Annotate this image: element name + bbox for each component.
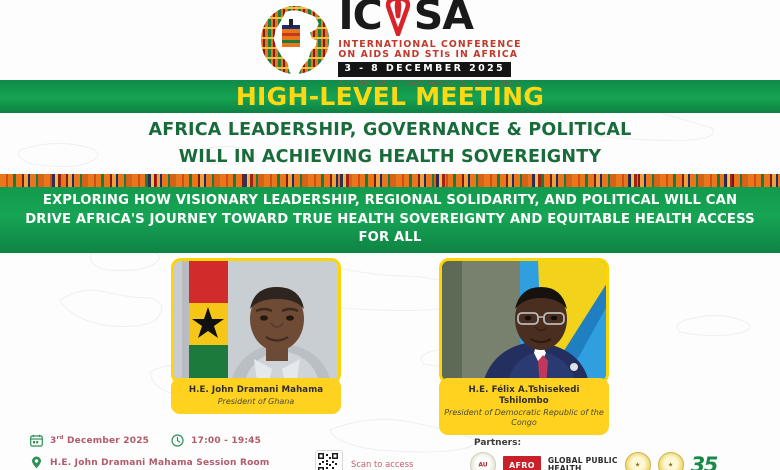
speaker-card-2: H.E. Félix A.Tshisekedi Tshilombo Presid… xyxy=(439,258,609,428)
subtitle-line-2: WILL IN ACHIEVING HEALTH SOVEREIGNTY xyxy=(0,144,780,171)
event-venue-label: H.E. John Dramani Mahama Session Room xyxy=(50,458,269,468)
clock-icon xyxy=(171,434,184,447)
poster-root: IC SA INTERNATIONAL CONFERENCE ON AIDS A… xyxy=(0,0,780,470)
speaker-role-1: President of Ghana xyxy=(175,397,337,407)
partner-global-public-line2: HEALTH xyxy=(548,465,618,470)
partner-logo-list: AU AFRO GLOBAL PUBLIC HEALTH ★ ★ xyxy=(470,453,717,470)
event-time: 17:00 - 19:45 xyxy=(171,434,261,447)
speaker-card-1: H.E. John Dramani Mahama President of Gh… xyxy=(171,258,341,428)
icasa-word-post: SA xyxy=(414,0,473,36)
qr-section[interactable]: Scan to access xyxy=(315,450,413,470)
partner-afro-label: AFRO xyxy=(503,456,541,470)
event-date: 3rd December 2025 xyxy=(30,434,149,447)
conference-tagline-2: ON AIDS AND STIs IN AFRICA xyxy=(338,50,518,59)
speaker-name-2: H.E. Félix A.Tshisekedi Tshilombo xyxy=(443,385,605,407)
location-pin-icon xyxy=(30,456,43,469)
qr-code-icon[interactable] xyxy=(315,450,343,470)
conference-venue: Accra International Conference Centre, A… xyxy=(338,80,520,86)
partner-seal-gold-1: ★ xyxy=(625,453,651,470)
partner-seal-1-mark: AU xyxy=(478,462,487,469)
conference-tagline-1: INTERNATIONAL CONFERENCE xyxy=(338,40,521,49)
partner-seal-gold-1-mark: ★ xyxy=(635,462,640,469)
event-venue: H.E. John Dramani Mahama Session Room xyxy=(30,456,269,469)
calendar-icon xyxy=(30,434,43,447)
partner-afro-red: AFRO xyxy=(503,453,541,470)
partner-seal-gold-2: ★ xyxy=(658,453,684,470)
subtitle: AFRICA LEADERSHIP, GOVERNANCE & POLITICA… xyxy=(0,117,780,171)
partner-35-label: 35 xyxy=(691,454,717,470)
africa-map-icon xyxy=(258,3,332,77)
partners-title: Partners: xyxy=(474,438,717,448)
speaker-caption-2: H.E. Félix A.Tshisekedi Tshilombo Presid… xyxy=(439,378,609,435)
conference-dates: 3 - 8 DECEMBER 2025 xyxy=(338,62,511,77)
speaker-caption-1: H.E. John Dramani Mahama President of Gh… xyxy=(171,378,341,414)
event-info-row-1: 3rd December 2025 17:00 - 19:45 xyxy=(30,434,269,447)
scan-label: Scan to access xyxy=(351,459,413,469)
description-band: EXPLORING HOW VISIONARY LEADERSHIP, REGI… xyxy=(0,187,780,253)
icasa-logo-text: IC SA INTERNATIONAL CONFERENCE ON AIDS A… xyxy=(338,0,521,86)
speaker-photo-2 xyxy=(439,258,609,384)
icasa-wordmark: IC SA xyxy=(338,0,473,38)
partner-35-anniversary: 35 xyxy=(691,453,717,470)
speaker-name-1: H.E. John Dramani Mahama xyxy=(175,385,337,396)
partner-seal-gold-2-mark: ★ xyxy=(668,462,673,469)
partner-seal-gold-2-icon: ★ xyxy=(658,452,684,470)
subtitle-line-1: AFRICA LEADERSHIP, GOVERNANCE & POLITICA… xyxy=(0,117,780,144)
event-info-row-2: H.E. John Dramani Mahama Session Room xyxy=(30,456,269,469)
partner-seal-1-icon: AU xyxy=(470,452,496,470)
kente-pattern-divider xyxy=(0,174,780,187)
description-text: EXPLORING HOW VISIONARY LEADERSHIP, REGI… xyxy=(20,192,760,248)
partner-seal-1: AU xyxy=(470,453,496,470)
icasa-logo: IC SA INTERNATIONAL CONFERENCE ON AIDS A… xyxy=(0,0,780,80)
speaker-role-2: President of Democratic Republic of the … xyxy=(443,408,605,428)
partners-section: Partners: AU AFRO GLOBAL PUBLIC HEALTH ★ xyxy=(470,438,717,470)
icasa-word-pre: IC xyxy=(338,0,381,36)
speakers-section: H.E. John Dramani Mahama President of Gh… xyxy=(0,258,780,428)
speaker-photo-1 xyxy=(171,258,341,384)
event-info: 3rd December 2025 17:00 - 19:45 xyxy=(30,434,269,469)
partner-global-public: GLOBAL PUBLIC HEALTH xyxy=(548,453,618,470)
event-date-label: 3rd December 2025 xyxy=(50,435,149,446)
aids-ribbon-icon xyxy=(383,0,413,36)
event-time-label: 17:00 - 19:45 xyxy=(191,436,261,446)
partner-seal-gold-1-icon: ★ xyxy=(625,452,651,470)
